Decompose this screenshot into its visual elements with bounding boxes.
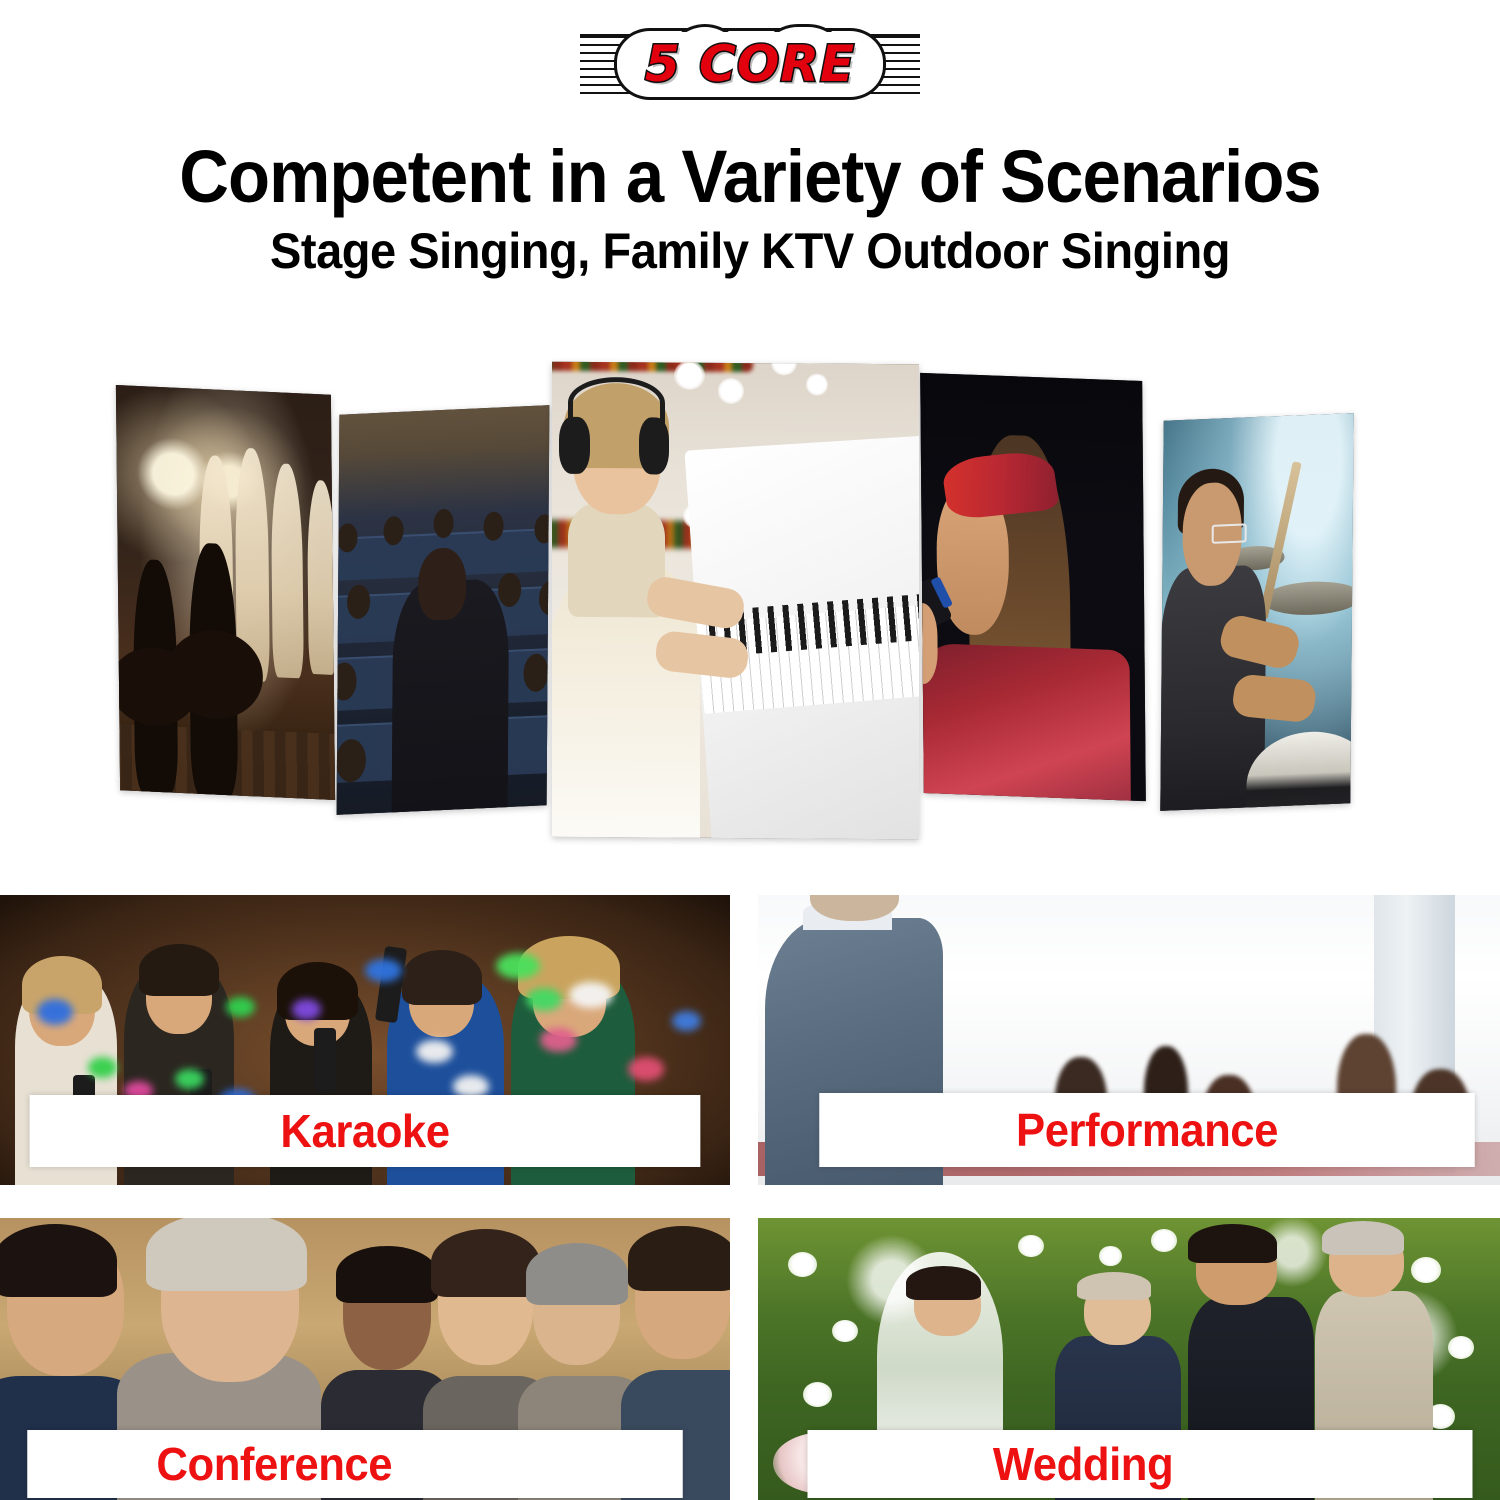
tile-label-karaoke: Karaoke [30,1095,701,1167]
photo-panel-drummer [1160,413,1353,811]
photo-panel-auditorium-singer [337,405,550,815]
scenario-tile-performance: Performance [758,895,1500,1185]
scenario-photo-strip [0,355,1500,855]
scenario-tile-karaoke: Karaoke [0,895,730,1185]
scenario-tile-wedding: Wedding [758,1218,1500,1500]
logo-badge: 5 CORE [580,28,920,100]
page-title: Competent in a Variety of Scenarios [53,140,1448,214]
stage-singer-image [920,373,1146,801]
child-piano-image [552,362,919,840]
photo-panel-ballet-recital [116,385,335,800]
tile-label-wedding: Wedding [808,1430,1473,1498]
drummer-image [1160,413,1353,811]
marketing-infographic: 5 CORE Competent in a Variety of Scenari… [0,0,1500,1500]
tile-label-conference: Conference [27,1430,683,1498]
brand-logo: 5 CORE [0,28,1500,100]
tile-label-performance: Performance [819,1093,1475,1167]
auditorium-singer-image [337,405,550,815]
photo-panel-child-piano [552,362,919,840]
scenario-tile-conference: Conference [0,1218,730,1500]
page-subtitle: Stage Singing, Family KTV Outdoor Singin… [45,226,1455,276]
photo-panel-stage-singer [920,373,1146,801]
logo-wordmark: 5 CORE [580,28,920,100]
ballet-recital-image [116,385,335,800]
